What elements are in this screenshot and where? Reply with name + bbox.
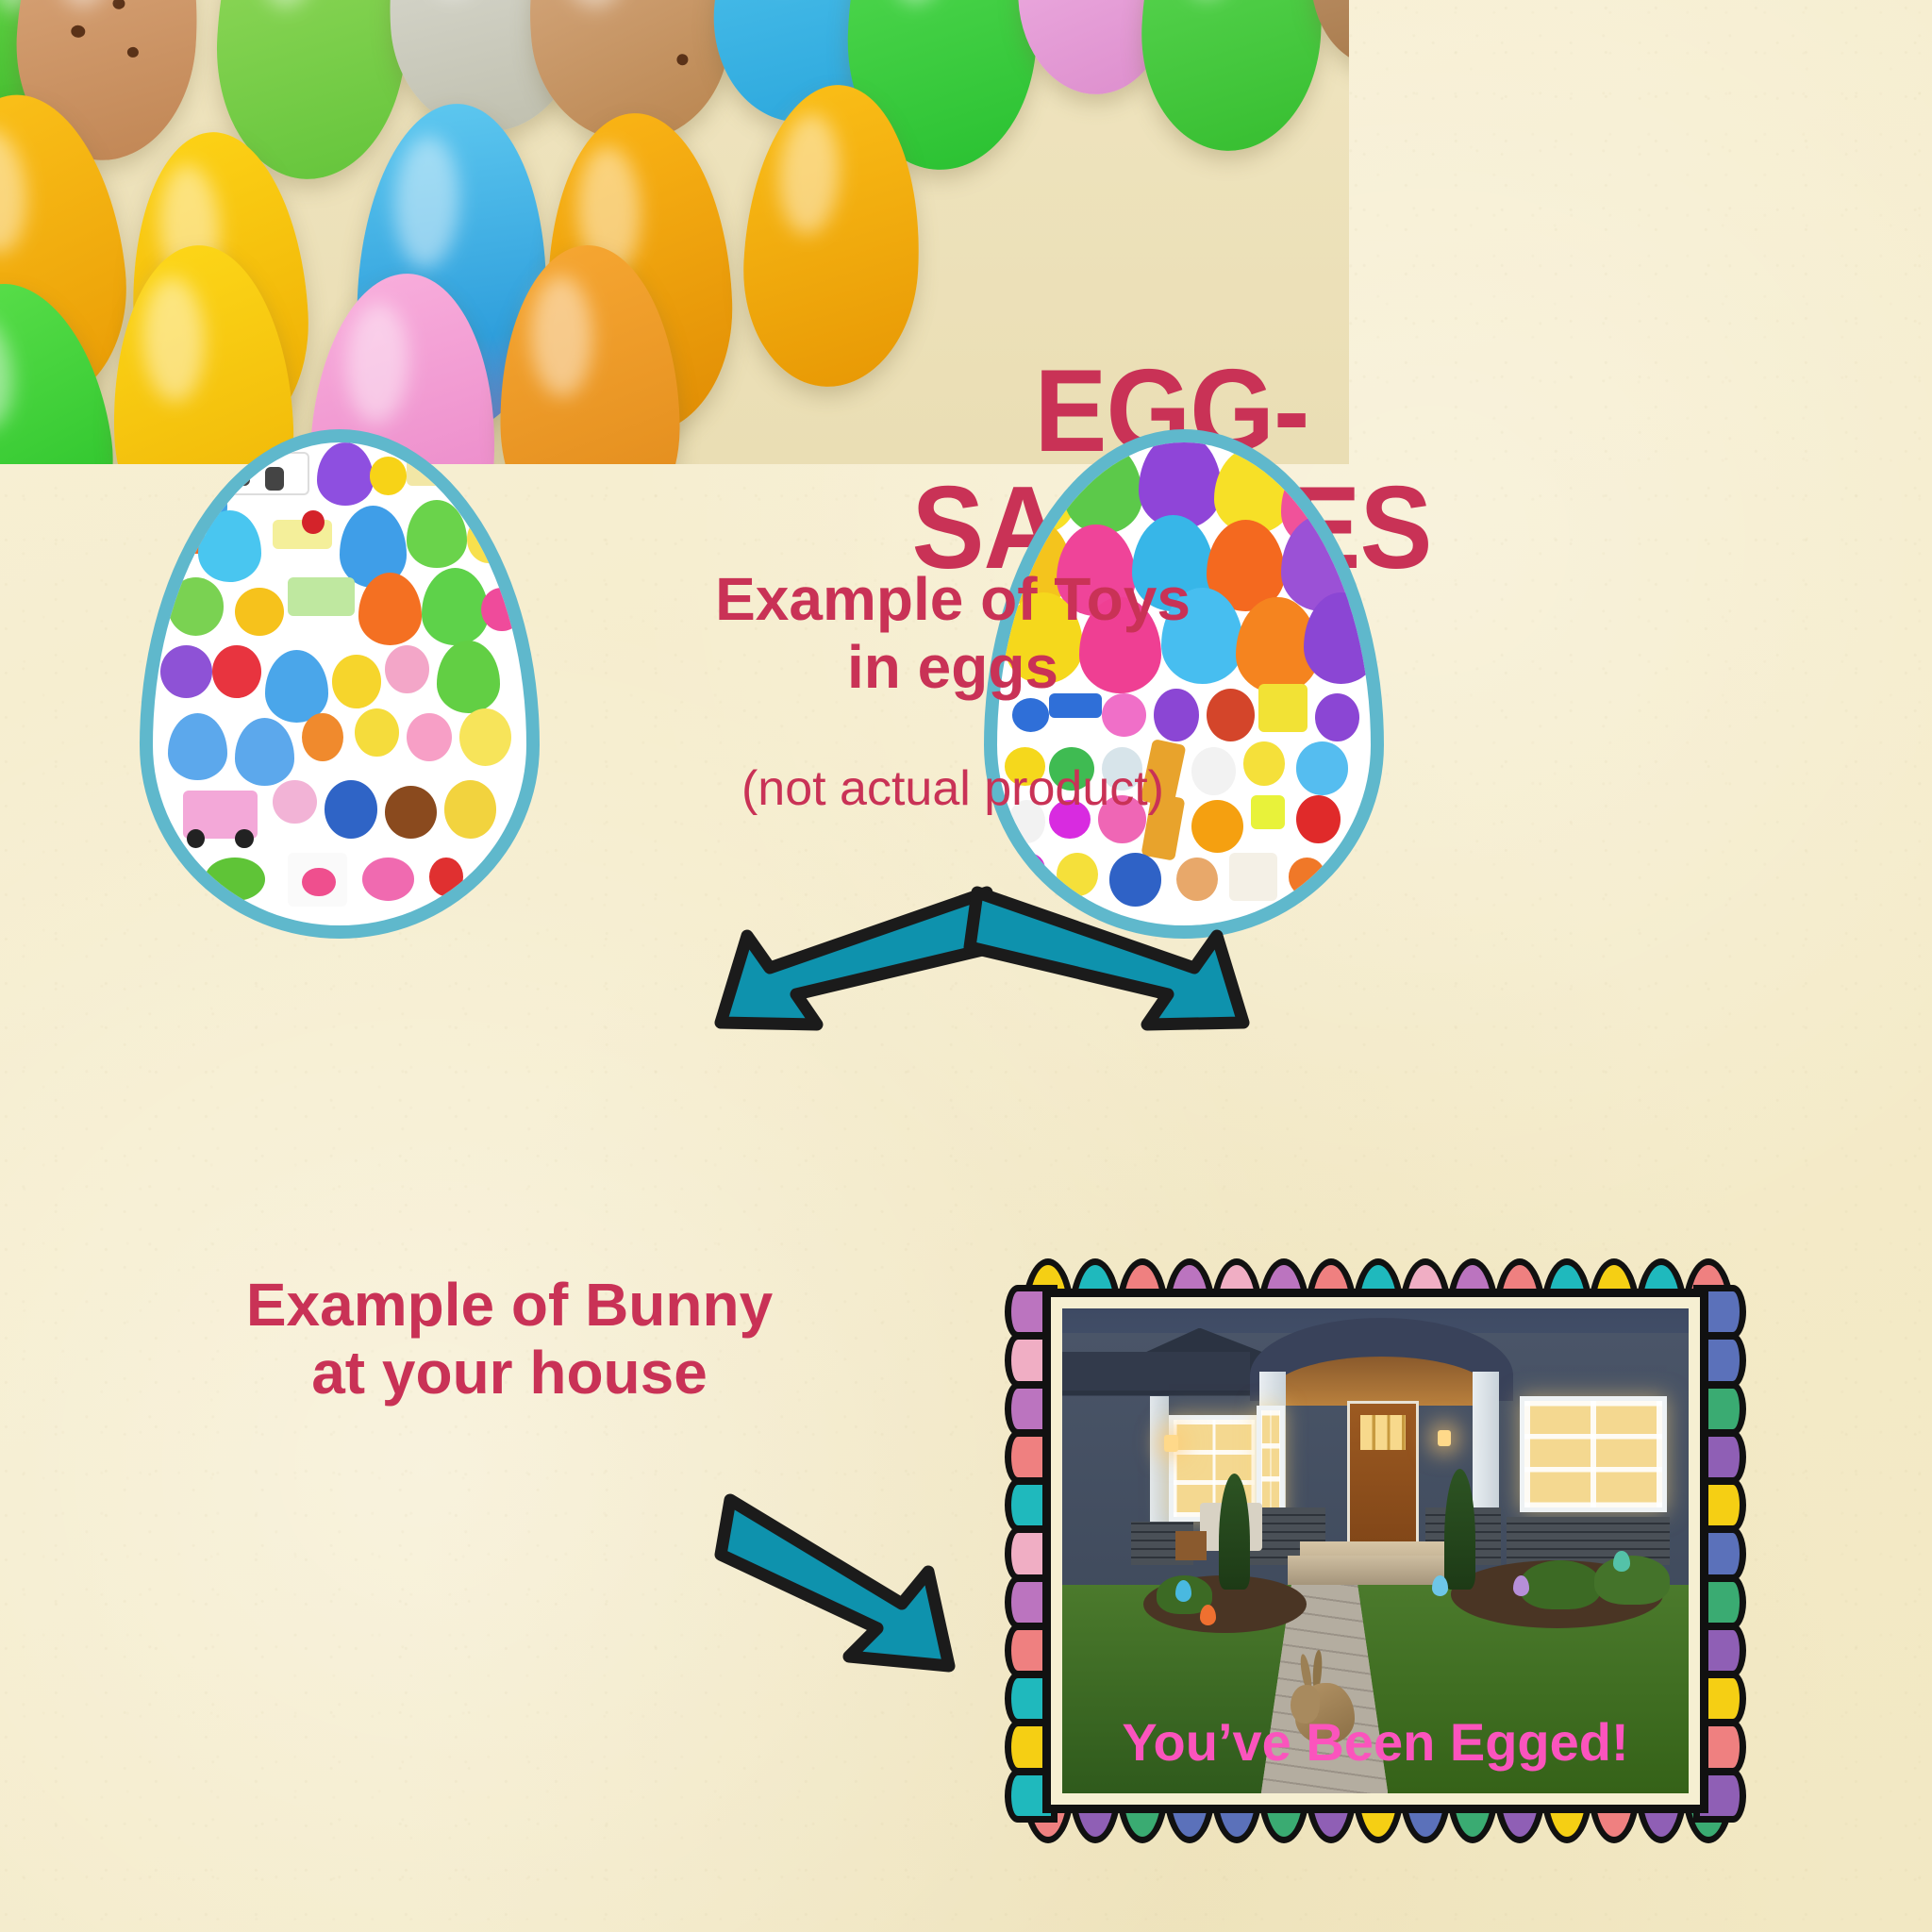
arrow-to-photo: [717, 1481, 1000, 1698]
poster-canvas: EGG-SAMPLES: [0, 0, 1932, 1932]
bunny-label-line1: Example of Bunny: [246, 1271, 773, 1339]
egg-cutout-toys-left: [140, 429, 540, 939]
toys-label: Example of Toys in eggs: [660, 566, 1245, 701]
disclaimer-text: (not actual product): [660, 762, 1245, 816]
bunny-label-line2: at your house: [311, 1339, 708, 1407]
photo-frame: You’ve Been Egged!: [1042, 1289, 1708, 1813]
toys-label-line2: in eggs: [847, 633, 1058, 701]
house-photo: You’ve Been Egged!: [1062, 1308, 1689, 1793]
arrow-right: [962, 877, 1245, 1066]
toys-label-line1: Example of Toys: [715, 565, 1191, 633]
arrow-left: [717, 877, 1000, 1066]
egged-caption: You’ve Been Egged!: [1062, 1716, 1689, 1769]
bunny-label: Example of Bunny at your house: [170, 1272, 849, 1407]
photo-card: You’ve Been Egged!: [1003, 1257, 1748, 1845]
